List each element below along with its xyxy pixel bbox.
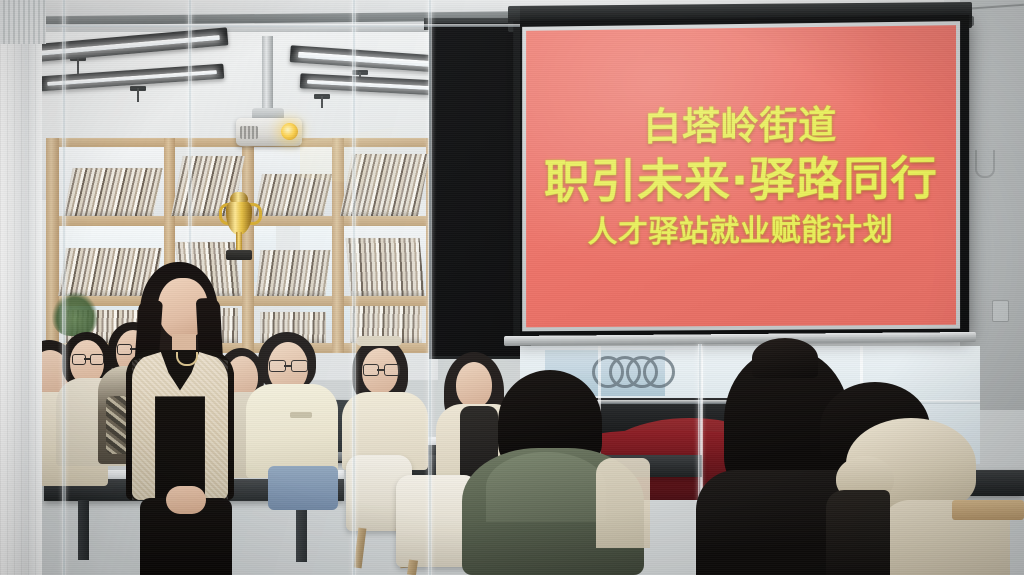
gold-trophy-stem <box>236 232 242 252</box>
screen-inner-border: 白塔岭街道 职引未来·驿路同行 人才驿站就业赋能计划 <box>522 21 960 331</box>
projector-lens <box>281 123 298 140</box>
screen-frame: 白塔岭街道 职引未来·驿路同行 人才驿站就业赋能计划 <box>513 15 969 337</box>
slide-line-1: 白塔岭街道 <box>643 106 837 146</box>
projection-screen: 白塔岭街道 职引未来·驿路同行 人才驿站就业赋能计划 <box>508 4 972 344</box>
side-table <box>952 500 1024 520</box>
potted-plant <box>52 292 98 336</box>
screen-surface: 白塔岭街道 职引未来·驿路同行 人才驿站就业赋能计划 <box>526 25 956 327</box>
slide-line-3: 人才驿站就业赋能计划 <box>588 216 894 249</box>
headband <box>356 336 402 346</box>
seminar-photo-scene: 白塔岭街道 职引未来·驿路同行 人才驿站就业赋能计划 <box>0 0 1024 575</box>
projector-mount-pole <box>262 36 273 114</box>
audi-rings-logo <box>592 356 684 382</box>
projector-vent <box>240 126 258 139</box>
presenter-hands <box>166 486 206 514</box>
vertical-blind-header <box>0 0 46 44</box>
gold-trophy-lid <box>230 192 248 202</box>
wall-cable-hook <box>975 150 995 178</box>
wall-light-switch[interactable] <box>992 300 1009 322</box>
slide-line-2: 职引未来·驿路同行 <box>544 155 938 205</box>
pillar-blind-lines <box>0 0 42 575</box>
gold-trophy-base <box>226 250 252 260</box>
